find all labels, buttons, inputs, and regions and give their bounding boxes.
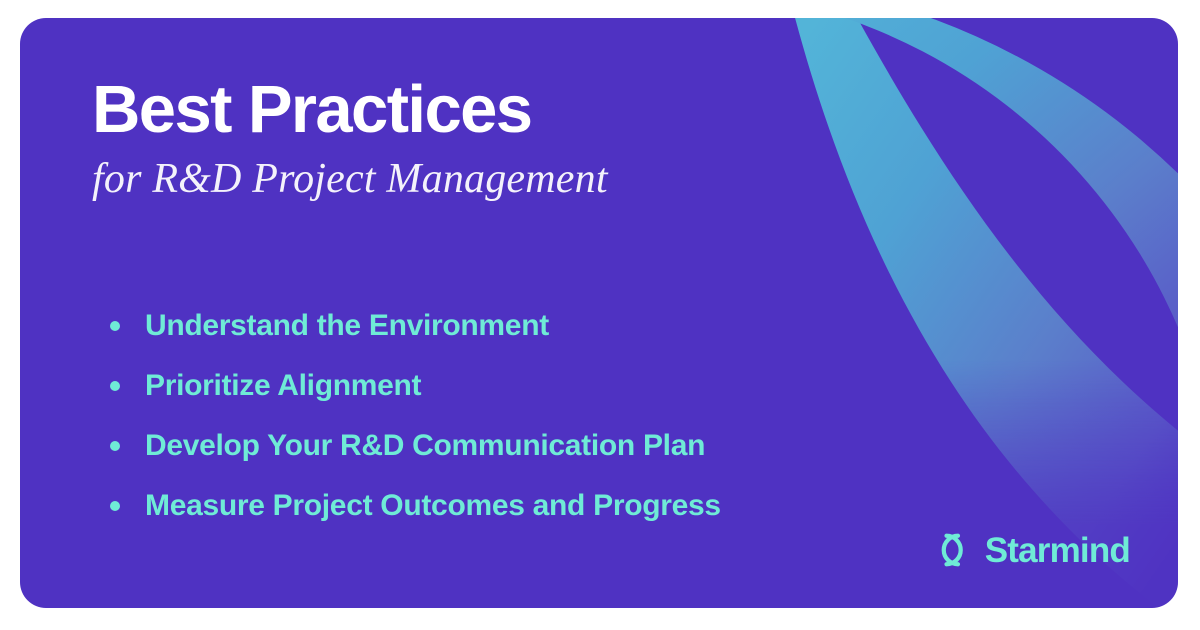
page-title: Best Practices xyxy=(92,76,912,143)
page-subtitle: for R&D Project Management xyxy=(92,157,912,201)
starmind-s-arc-mark xyxy=(930,528,974,572)
best-practices-list: Understand the Environment Prioritize Al… xyxy=(110,296,1010,536)
bullet-dot-icon xyxy=(110,441,120,451)
starmind-wordmark: Starmind xyxy=(985,533,1130,568)
purple-card: Best Practices for R&D Project Managemen… xyxy=(20,18,1178,608)
list-item-label: Understand the Environment xyxy=(145,311,549,341)
headline-block: Best Practices for R&D Project Managemen… xyxy=(92,76,912,201)
bullet-dot-icon xyxy=(110,501,120,511)
list-item: Prioritize Alignment xyxy=(110,356,1010,416)
poster-canvas: Best Practices for R&D Project Managemen… xyxy=(0,0,1200,630)
starmind-logo: Starmind xyxy=(930,528,1130,572)
bullet-dot-icon xyxy=(110,321,120,331)
bullet-dot-icon xyxy=(110,381,120,391)
list-item-label: Develop Your R&D Communication Plan xyxy=(145,431,705,461)
list-item: Develop Your R&D Communication Plan xyxy=(110,416,1010,476)
list-item: Understand the Environment xyxy=(110,296,1010,356)
list-item-label: Measure Project Outcomes and Progress xyxy=(145,491,721,521)
list-item: Measure Project Outcomes and Progress xyxy=(110,476,1010,536)
list-item-label: Prioritize Alignment xyxy=(145,371,421,401)
